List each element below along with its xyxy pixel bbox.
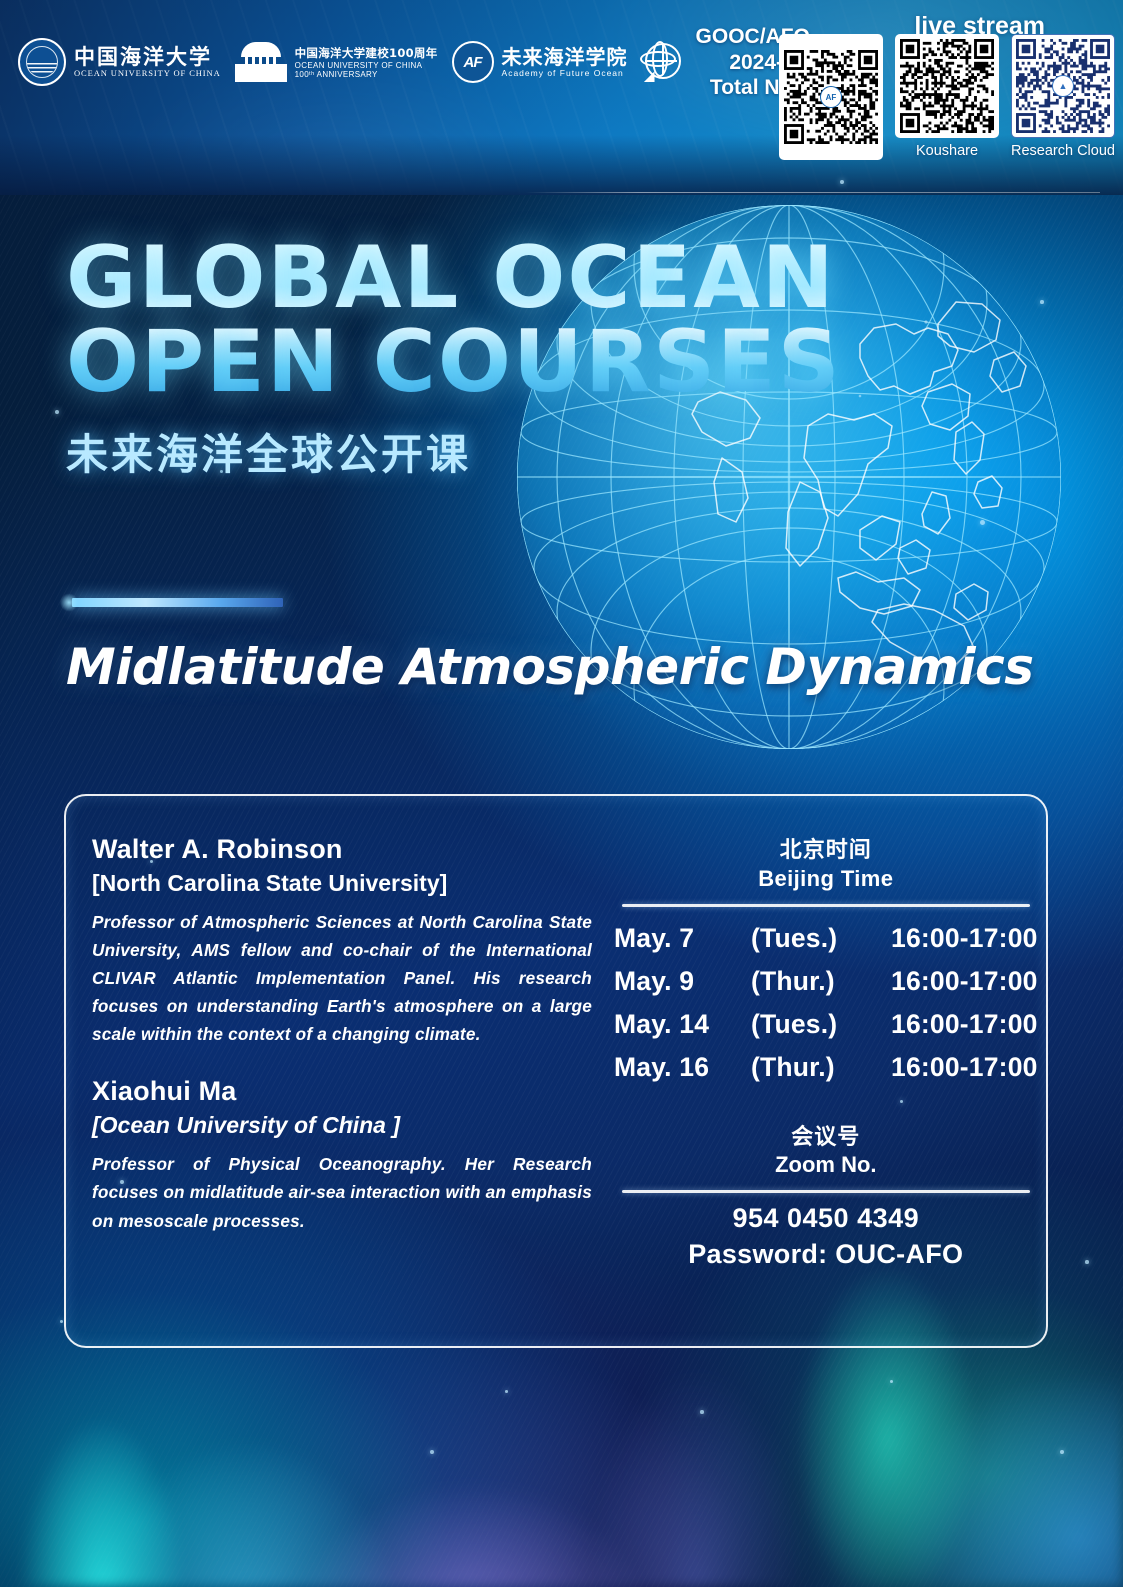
main-title-line-1: GLOBAL OCEAN bbox=[66, 236, 842, 320]
speaker-2-bio: Professor of Physical Oceanography. Her … bbox=[92, 1150, 592, 1234]
schedule-date: May. 16 bbox=[614, 1046, 751, 1089]
qr-koushare-caption: Koushare bbox=[916, 143, 978, 159]
schedule-row: May. 7 (Tues.) 16:00-17:00 bbox=[614, 917, 1038, 960]
main-title: GLOBAL OCEAN OPEN COURSES bbox=[66, 236, 842, 405]
ouc-logo-en: OCEAN UNIVERSITY OF CHINA bbox=[74, 68, 221, 78]
schedule-time: 16:00-17:00 bbox=[891, 1046, 1038, 1089]
timezone-label-en: Beijing Time bbox=[614, 866, 1038, 892]
main-title-chinese: 未来海洋全球公开课 bbox=[66, 421, 842, 482]
schedule-date: May. 14 bbox=[614, 1003, 751, 1046]
af-monogram-text: AF bbox=[464, 54, 482, 71]
speaker-1-bio: Professor of Atmospheric Sciences at Nor… bbox=[92, 908, 592, 1048]
speaker-2-affiliation: [Ocean University of China ] bbox=[92, 1110, 592, 1141]
ouc-logo: 中国海洋大学 OCEAN UNIVERSITY OF CHINA bbox=[18, 38, 235, 86]
speaker-walter-robinson: Walter A. Robinson [North Carolina State… bbox=[92, 832, 592, 1048]
afo-logo-cn: 未来海洋学院 bbox=[502, 46, 628, 68]
schedule-date: May. 7 bbox=[614, 917, 751, 960]
schedule-weekday: (Thur.) bbox=[751, 1046, 891, 1089]
poster-root: 中国海洋大学 OCEAN UNIVERSITY OF CHINA 中国海洋大学建… bbox=[0, 0, 1123, 1587]
afo-logo-en: Academy of Future Ocean bbox=[502, 68, 628, 78]
schedule-row: May. 9 (Thur.) 16:00-17:00 bbox=[614, 960, 1038, 1003]
meeting-label-cn: 会议号 bbox=[614, 1119, 1038, 1151]
header-divider bbox=[525, 192, 1100, 193]
main-title-block: GLOBAL OCEAN OPEN COURSES 未来海洋全球公开课 bbox=[66, 236, 842, 482]
speaker-2-name: Xiaohui Ma bbox=[92, 1074, 592, 1109]
timezone-label-cn: 北京时间 bbox=[614, 832, 1038, 864]
qr-research-cloud[interactable]: ▲ Research Cloud bbox=[1011, 34, 1115, 159]
title-accent-bar bbox=[72, 598, 283, 607]
logo-group: 中国海洋大学 OCEAN UNIVERSITY OF CHINA 中国海洋大学建… bbox=[18, 24, 810, 101]
qr-research-cloud-caption: Research Cloud bbox=[1011, 143, 1115, 159]
meeting-label-en: Zoom No. bbox=[614, 1152, 1038, 1178]
schedule-row: May. 14 (Tues.) 16:00-17:00 bbox=[614, 1003, 1038, 1046]
meeting-divider bbox=[622, 1190, 1030, 1193]
schedule-table: May. 7 (Tues.) 16:00-17:00 May. 9 (Thur.… bbox=[614, 917, 1038, 1089]
schedule-weekday: (Thur.) bbox=[751, 960, 891, 1003]
anniversary-line-en: OCEAN UNIVERSITY OF CHINA bbox=[295, 61, 438, 70]
timezone-heading: 北京时间 Beijing Time bbox=[614, 832, 1038, 892]
qr-research-cloud-badge: ▲ bbox=[1052, 75, 1074, 97]
schedule-column: 北京时间 Beijing Time May. 7 (Tues.) 16:00-1… bbox=[592, 796, 1062, 1346]
meeting-password: Password: OUC-AFO bbox=[614, 1239, 1038, 1270]
course-title: Midlatitude Atmospheric Dynamics bbox=[66, 638, 1034, 696]
meeting-heading: 会议号 Zoom No. bbox=[614, 1119, 1038, 1178]
anniversary-building-icon bbox=[235, 42, 287, 82]
meeting-number: 954 0450 4349 bbox=[614, 1203, 1038, 1234]
ouc-seal-icon bbox=[18, 38, 66, 86]
speakers-column: Walter A. Robinson [North Carolina State… bbox=[66, 796, 592, 1346]
speaker-1-name: Walter A. Robinson bbox=[92, 832, 592, 867]
af-monogram-icon: AF bbox=[452, 41, 494, 83]
schedule-time: 16:00-17:00 bbox=[891, 917, 1038, 960]
schedule-weekday: (Tues.) bbox=[751, 917, 891, 960]
schedule-time: 16:00-17:00 bbox=[891, 960, 1038, 1003]
qr-gooc-afo[interactable]: AF bbox=[779, 34, 883, 165]
schedule-weekday: (Tues.) bbox=[751, 1003, 891, 1046]
anniversary-line-sub: 100ᵗʰ ANNIVERSARY bbox=[295, 70, 438, 79]
anniversary-line-cn: 中国海洋大学建校100周年 bbox=[295, 45, 438, 61]
schedule-divider bbox=[622, 904, 1030, 907]
main-title-line-2: OPEN COURSES bbox=[66, 320, 842, 404]
ouc-100th-logo: 中国海洋大学建校100周年 OCEAN UNIVERSITY OF CHINA … bbox=[235, 42, 452, 82]
schedule-date: May. 9 bbox=[614, 960, 751, 1003]
qr-koushare-image bbox=[900, 39, 994, 133]
qr-code-group: AF Koushare ▲ Research Cloud bbox=[779, 34, 1115, 165]
globe-chat-icon bbox=[642, 42, 682, 82]
afo-logo: AF 未来海洋学院 Academy of Future Ocean bbox=[452, 41, 642, 83]
speaker-xiaohui-ma: Xiaohui Ma [Ocean University of China ] … bbox=[92, 1074, 592, 1234]
ouc-logo-cn: 中国海洋大学 bbox=[74, 46, 221, 68]
qr-koushare[interactable]: Koushare bbox=[895, 34, 999, 159]
info-card: Walter A. Robinson [North Carolina State… bbox=[64, 794, 1048, 1348]
qr-gooc-afo-badge: AF bbox=[820, 86, 842, 108]
speaker-1-affiliation: [North Carolina State University] bbox=[92, 868, 592, 899]
schedule-row: May. 16 (Thur.) 16:00-17:00 bbox=[614, 1046, 1038, 1089]
schedule-time: 16:00-17:00 bbox=[891, 1003, 1038, 1046]
